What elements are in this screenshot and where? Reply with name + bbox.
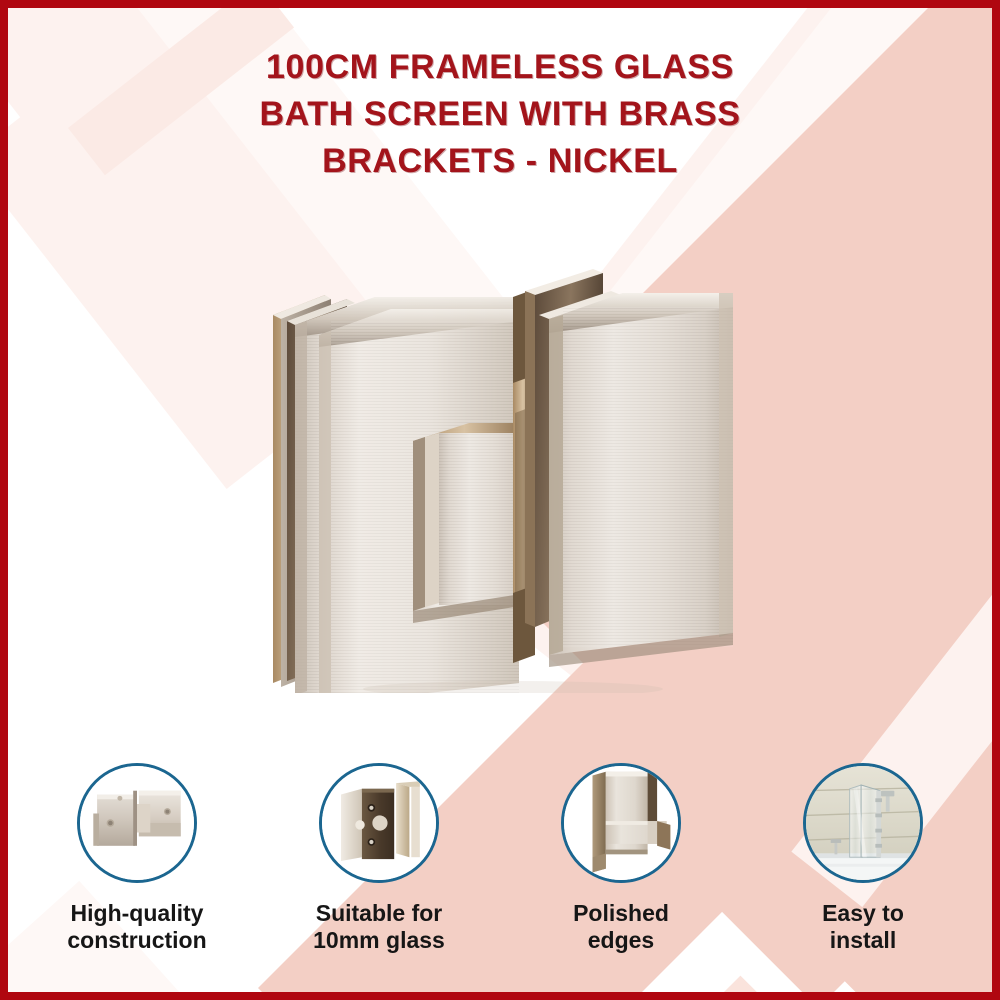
feature-item-easy-to-install: Easy to install: [748, 763, 978, 954]
feature-list: High-quality construction: [16, 763, 984, 978]
polished-edge-icon-art: [564, 766, 678, 880]
feature-label: Easy to install: [822, 900, 904, 954]
page-title-line-1: 100CM FRAMELESS GLASS: [8, 44, 992, 91]
bg-accent-band-1: [698, 976, 992, 992]
hinge-bracket-icon-art: [80, 766, 194, 880]
bathroom-screen-icon-art: [806, 766, 920, 880]
polished-edge-icon: [561, 763, 681, 883]
page-title-line-2: BATH SCREEN WITH BRASS: [8, 91, 992, 138]
hinge-bracket-icon: [77, 763, 197, 883]
bg-cut-white-2: [808, 981, 992, 992]
bathroom-screen-icon: [803, 763, 923, 883]
feature-item-polished-edges: Polished edges: [506, 763, 736, 954]
hinge-bracket-illustration: [263, 263, 763, 693]
feature-label: Polished edges: [573, 900, 669, 954]
page-title-line-3: BRACKETS - NICKEL: [8, 138, 992, 185]
feature-item-suitable-for-10mm-glass: Suitable for 10mm glass: [264, 763, 494, 954]
glass-clamp-icon: [319, 763, 439, 883]
feature-item-high-quality-construction: High-quality construction: [22, 763, 252, 954]
feature-label: Suitable for 10mm glass: [313, 900, 445, 954]
bg-stripe-topright-4: [728, 338, 960, 611]
product-listing-page: 100CM FRAMELESS GLASS BATH SCREEN WITH B…: [0, 0, 1000, 1000]
feature-label: High-quality construction: [67, 900, 206, 954]
glass-clamp-icon-art: [322, 766, 436, 880]
hero-product-image: [263, 263, 763, 693]
page-title: 100CM FRAMELESS GLASS BATH SCREEN WITH B…: [8, 44, 992, 185]
